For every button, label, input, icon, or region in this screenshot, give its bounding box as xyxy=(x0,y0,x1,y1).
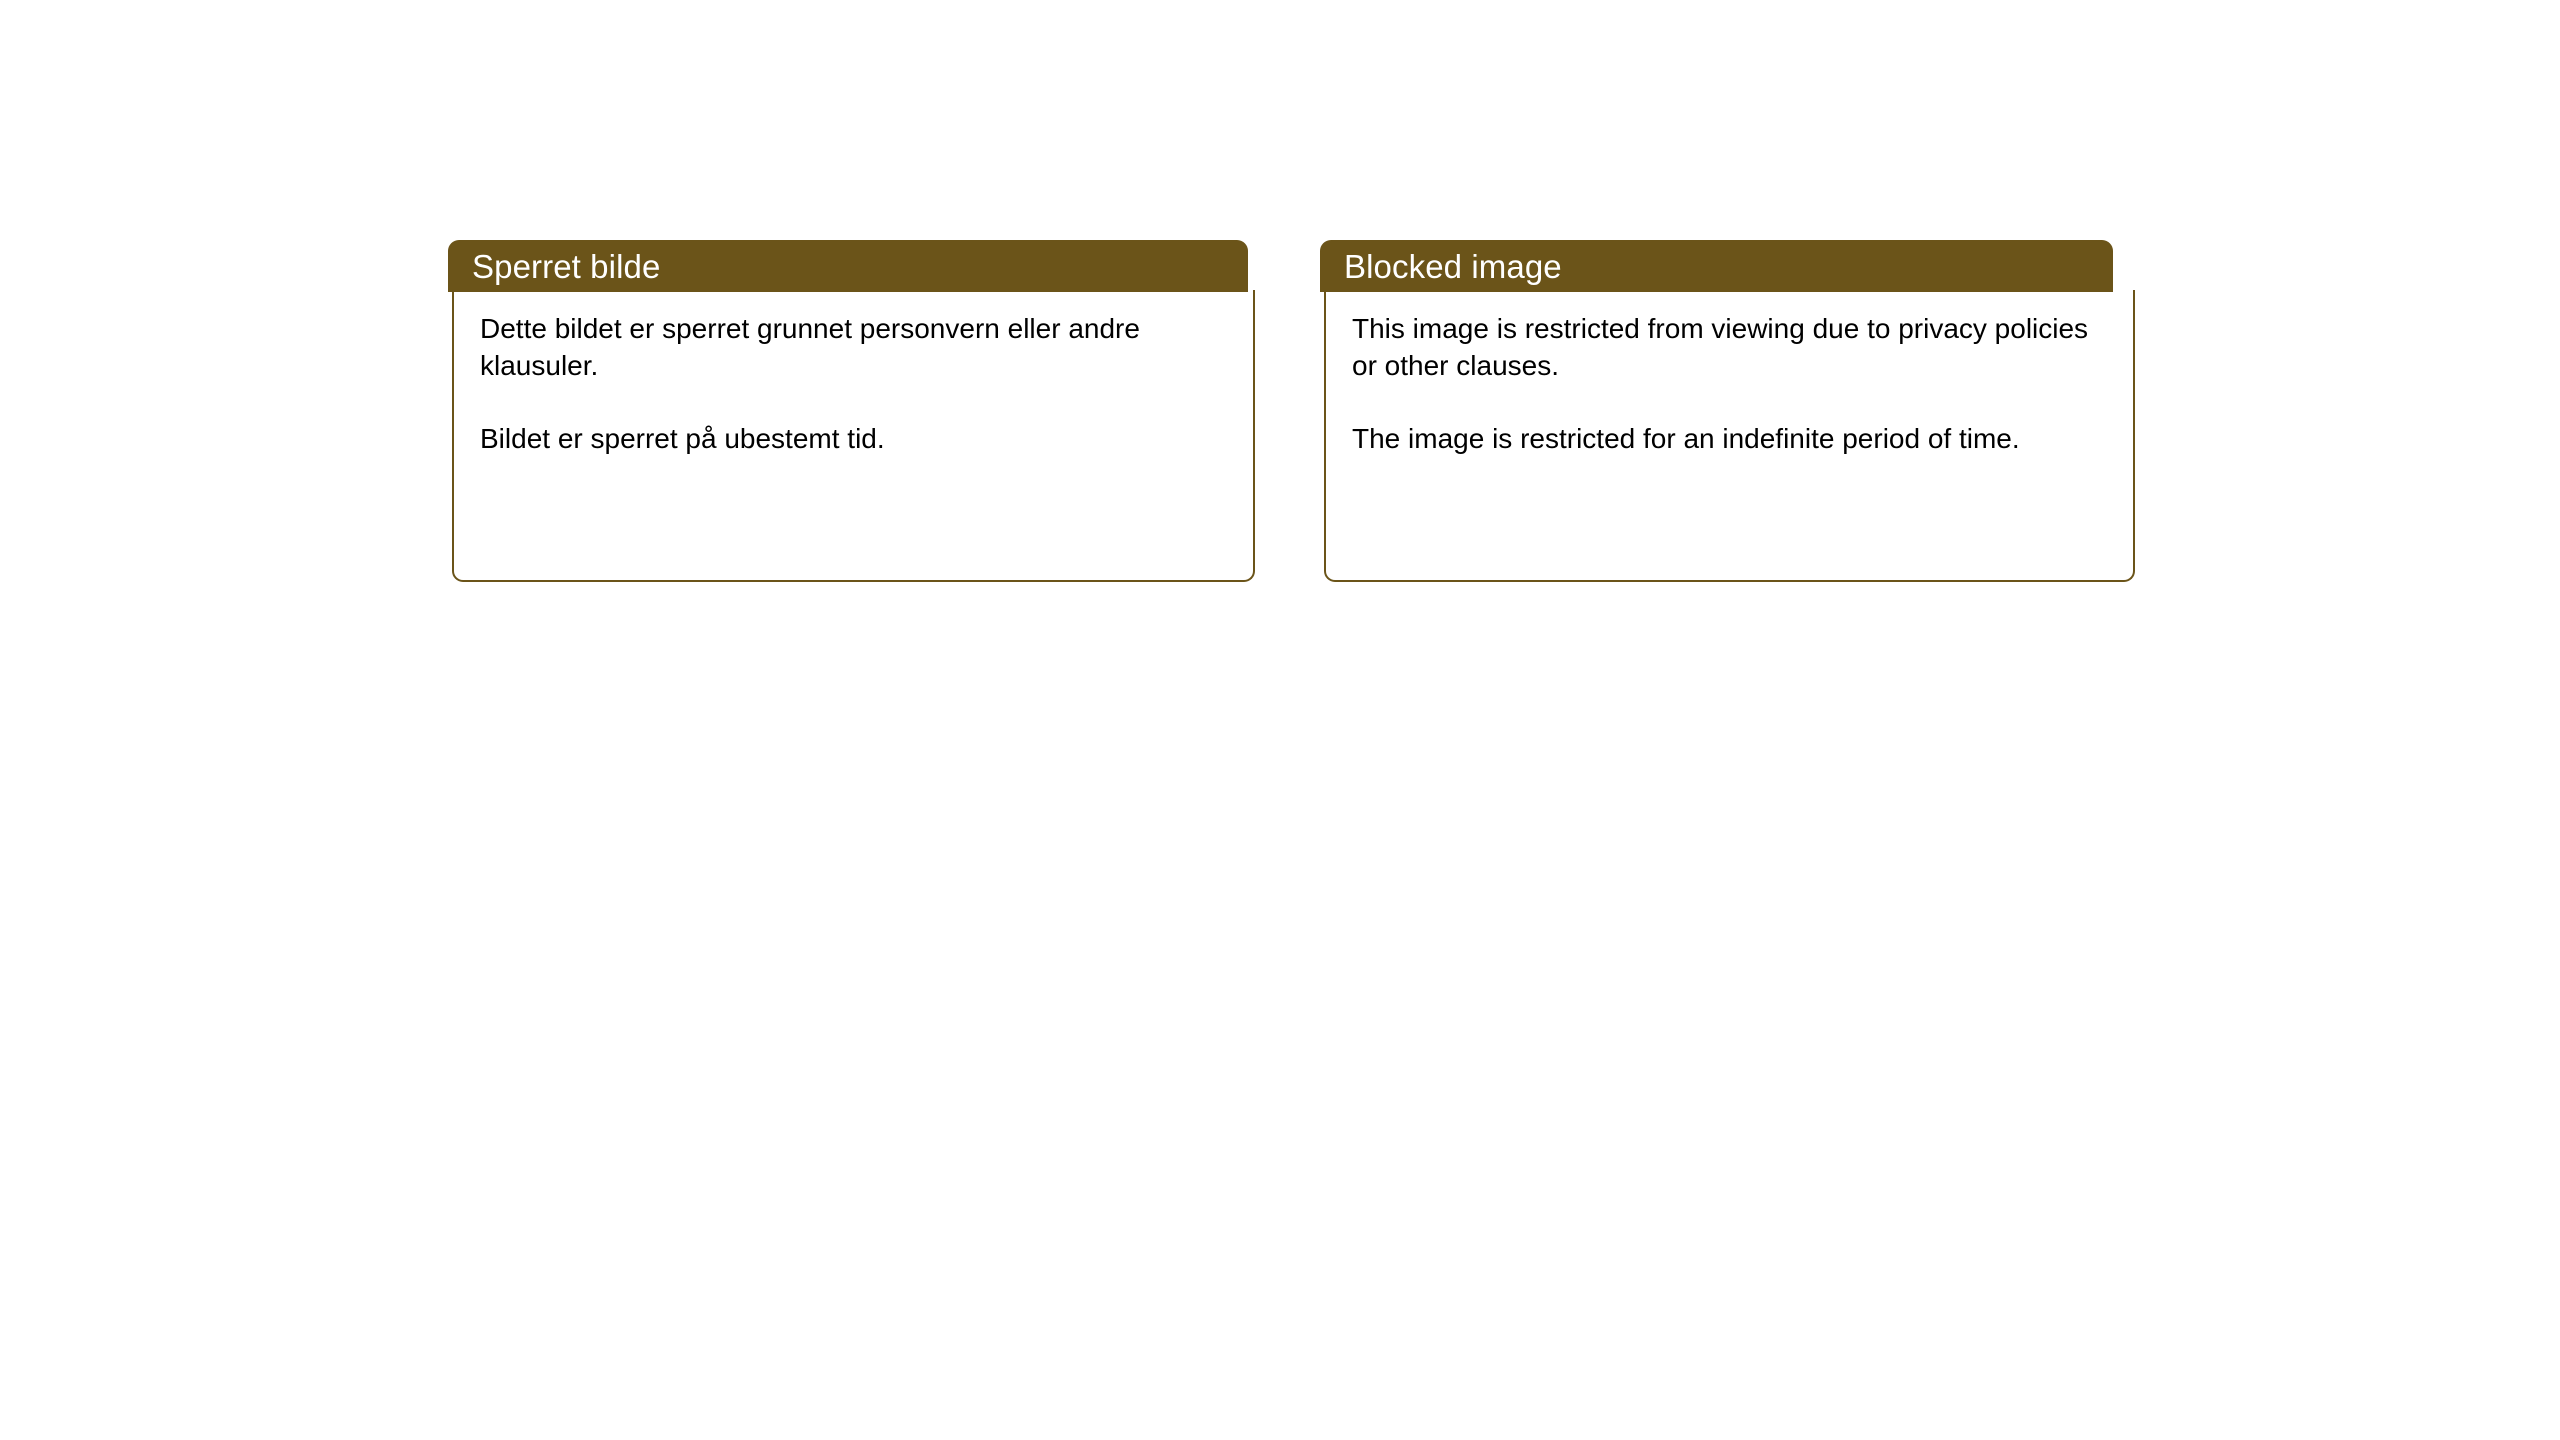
card-paragraph-duration-english: The image is restricted for an indefinit… xyxy=(1352,420,2107,457)
card-header-norwegian: Sperret bilde xyxy=(448,240,1248,292)
notice-stage: Sperret bilde Dette bildet er sperret gr… xyxy=(0,0,2560,1440)
blocked-image-card-norwegian: Sperret bilde Dette bildet er sperret gr… xyxy=(448,240,1258,582)
card-body-norwegian: Dette bildet er sperret grunnet personve… xyxy=(452,290,1255,582)
card-title-english: Blocked image xyxy=(1320,250,1562,283)
card-title-norwegian: Sperret bilde xyxy=(448,250,660,283)
card-paragraph-privacy-english: This image is restricted from viewing du… xyxy=(1352,310,2107,384)
card-header-english: Blocked image xyxy=(1320,240,2113,292)
card-paragraph-duration-norwegian: Bildet er sperret på ubestemt tid. xyxy=(480,420,1227,457)
card-paragraph-privacy-norwegian: Dette bildet er sperret grunnet personve… xyxy=(480,310,1227,384)
card-body-english: This image is restricted from viewing du… xyxy=(1324,290,2135,582)
blocked-image-card-english: Blocked image This image is restricted f… xyxy=(1320,240,2138,582)
